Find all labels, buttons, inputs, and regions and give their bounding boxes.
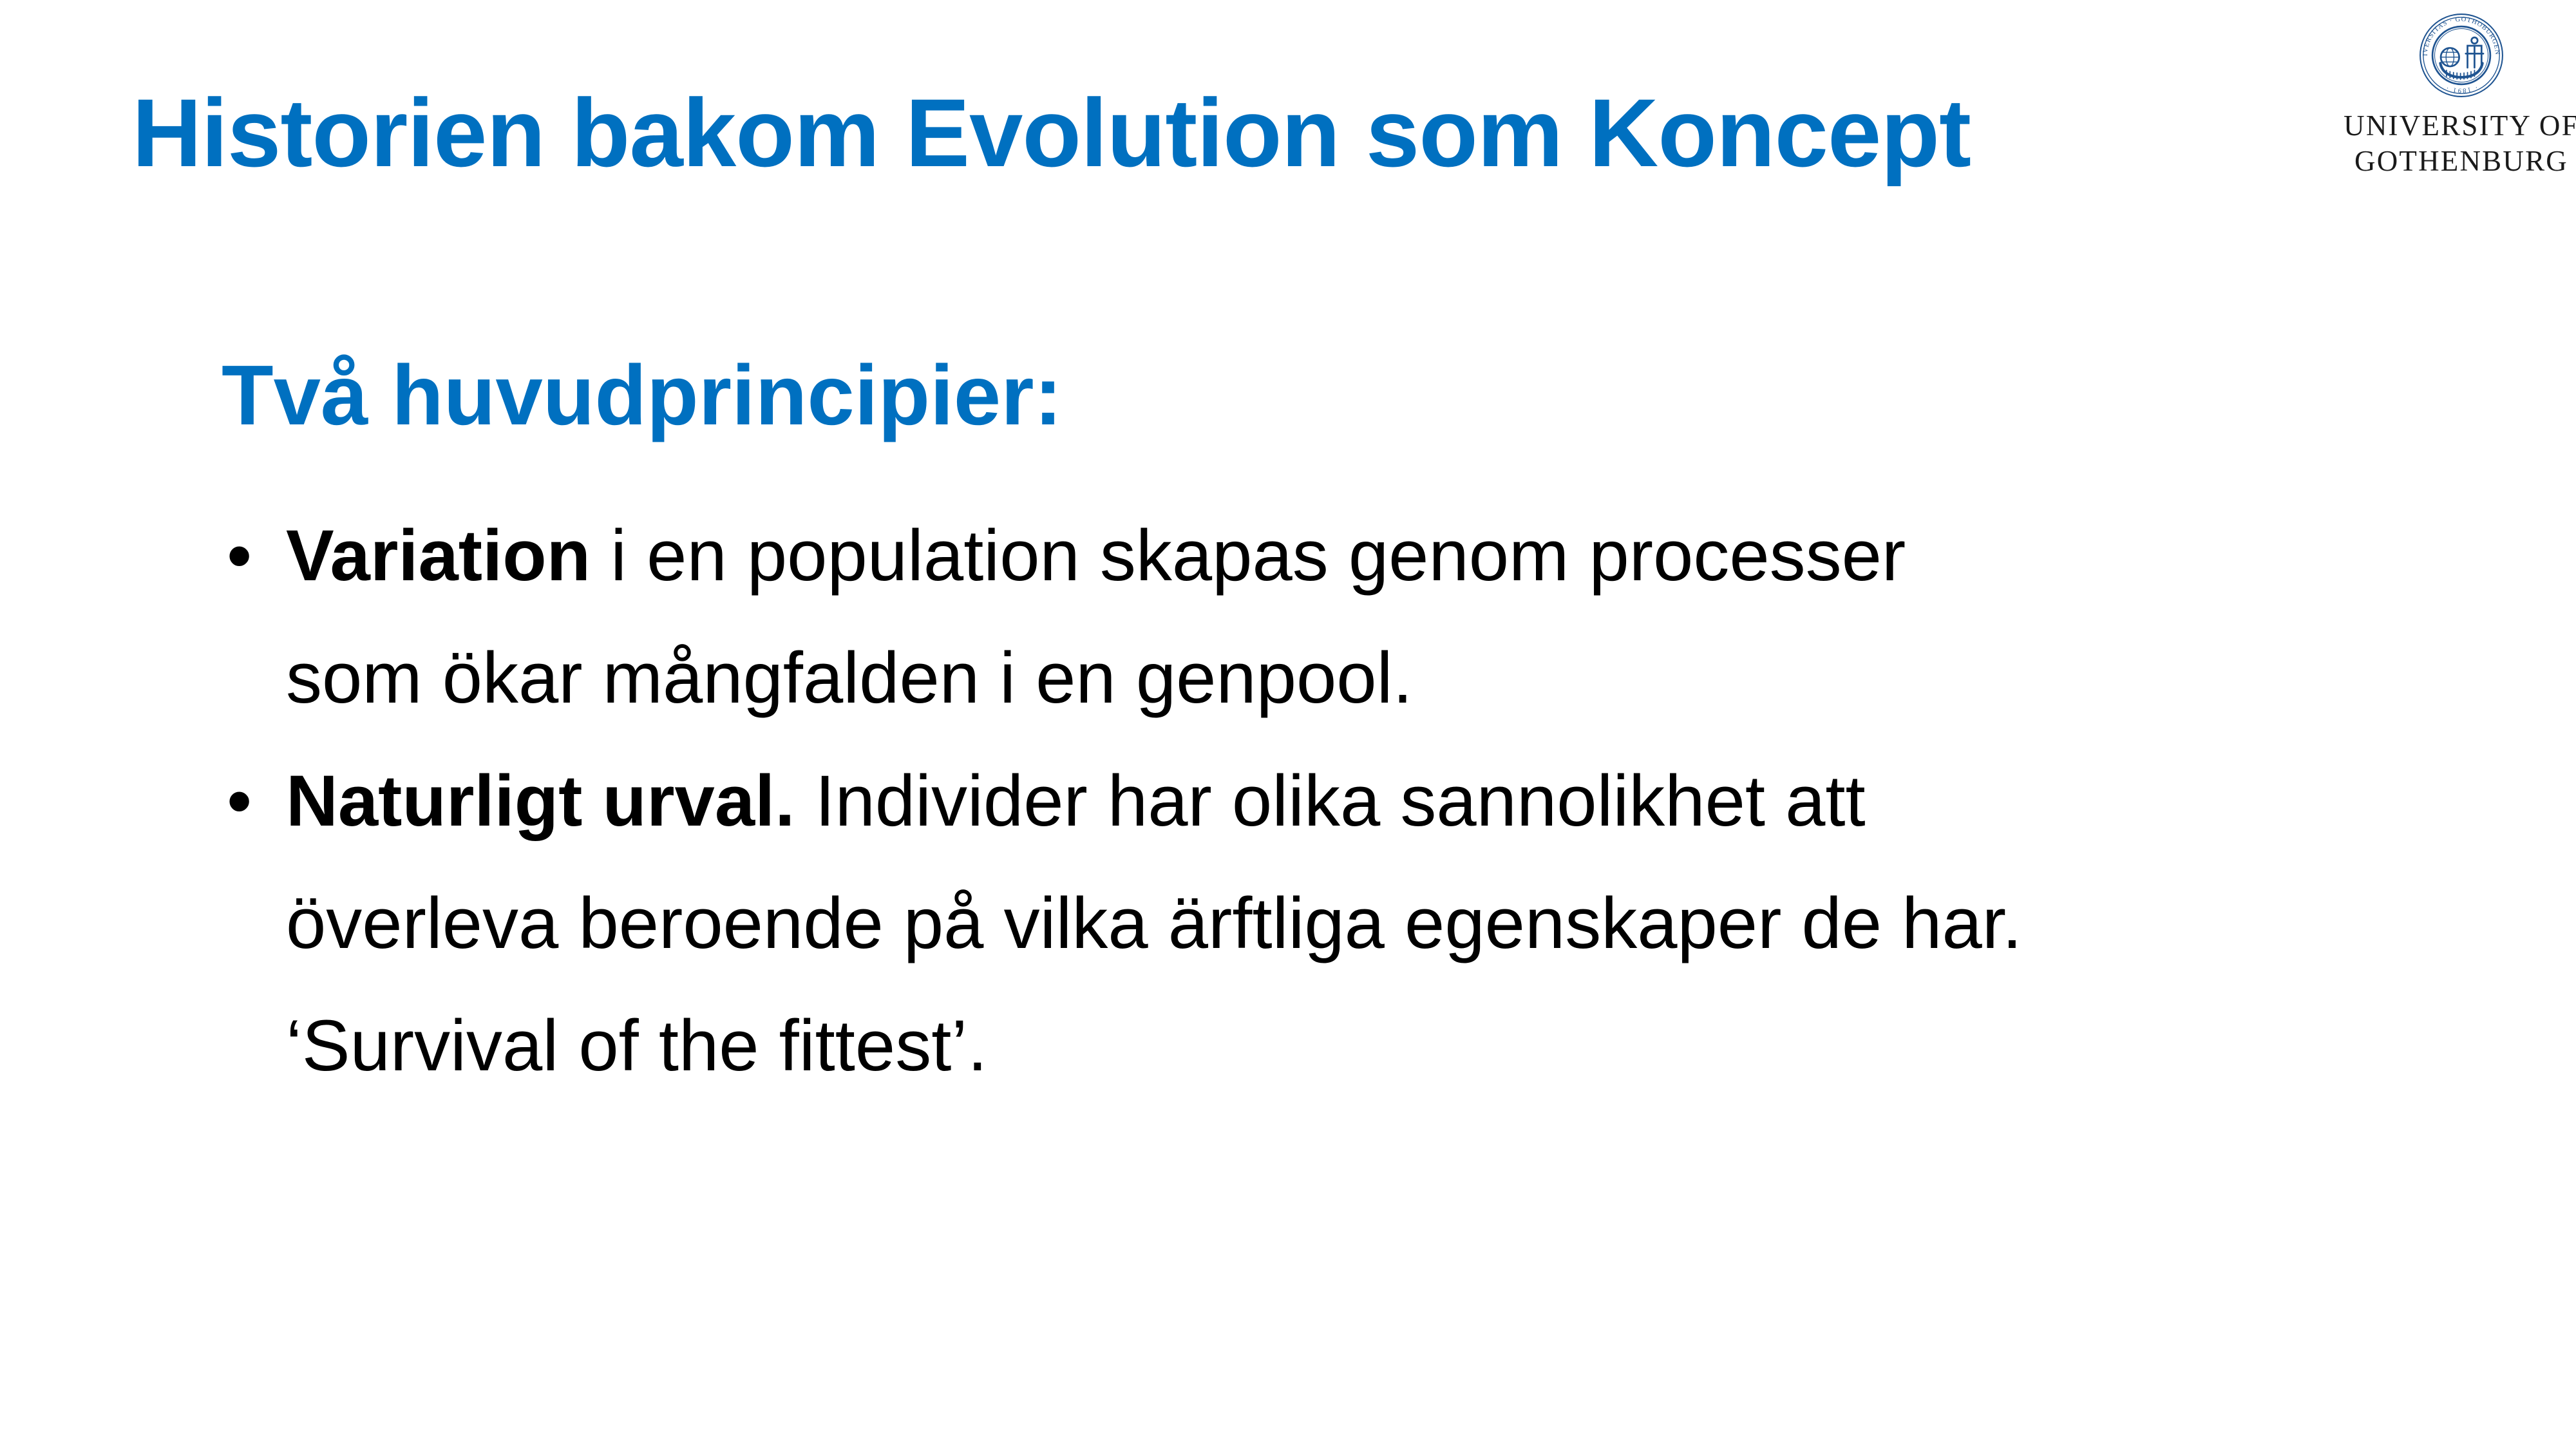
university-seal-icon: UNIVERSITAS · GOTHOBURGENSIS · 1891 · [2418,12,2505,99]
bullet-dot-icon: • [227,495,252,617]
university-logo: UNIVERSITAS · GOTHOBURGENSIS · 1891 · [2365,12,2558,179]
list-item-text: Variation i en population skapas genom p… [286,495,2044,740]
list-item-lead: Variation [286,515,591,596]
list-item-lead: Naturligt urval. [286,761,795,841]
bullet-dot-icon: • [227,740,252,862]
logo-wordmark-line2: GOTHENBURG [2344,144,2576,179]
list-item: • Variation i en population skapas genom… [222,495,2154,740]
list-item: • Naturligt urval. Individer har olika s… [222,740,2154,1108]
presentation-slide: Historien bakom Evolution som Koncept UN… [0,0,2576,1449]
logo-wordmark: UNIVERSITY OF GOTHENBURG [2344,108,2576,179]
principles-list: • Variation i en population skapas genom… [222,495,2154,1108]
slide-title: Historien bakom Evolution som Koncept [132,82,1971,184]
logo-wordmark-line1: UNIVERSITY OF [2344,109,2576,142]
slide-body: Två huvudprincipier: • Variation i en po… [222,348,2154,1108]
section-heading: Två huvudprincipier: [222,348,2154,443]
list-item-text: Naturligt urval. Individer har olika san… [286,740,2044,1108]
svg-text:UNIVERSITAS · GOTHOBURGENSIS: UNIVERSITAS · GOTHOBURGENSIS [2418,12,2501,56]
